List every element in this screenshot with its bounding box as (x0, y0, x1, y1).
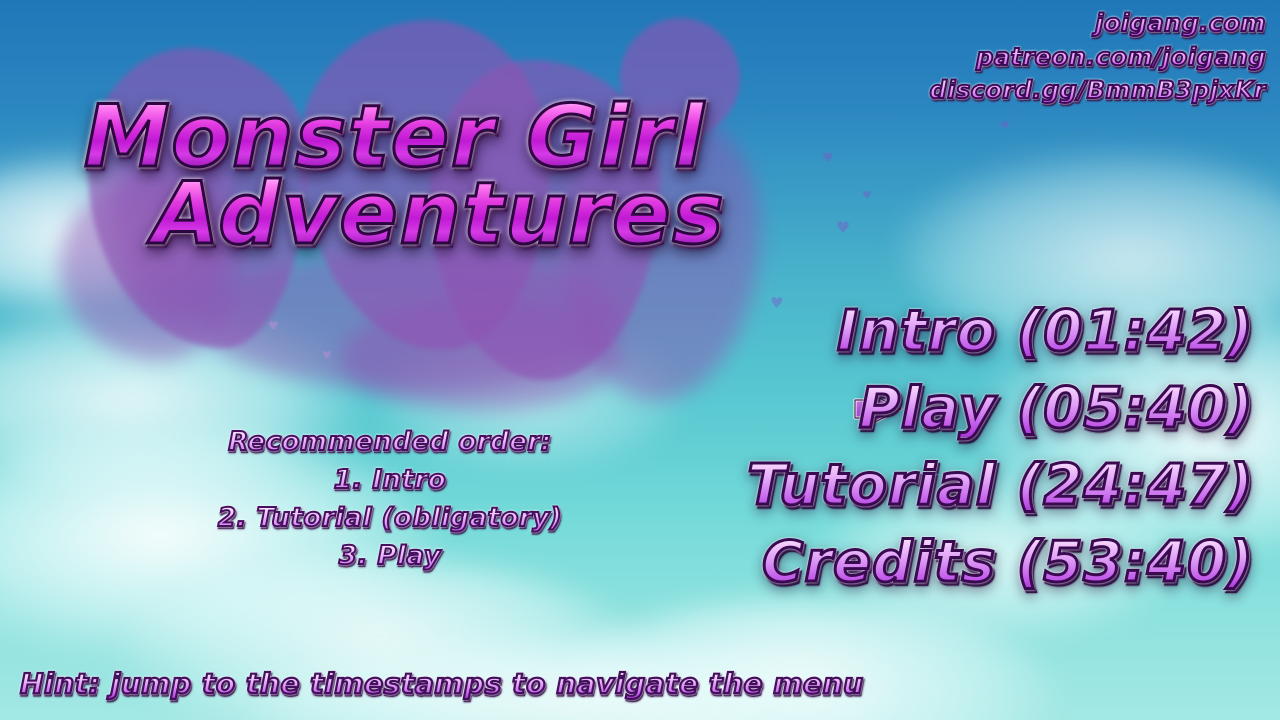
navigation-hint-text: Hint: jump to the timestamps to navigate… (20, 670, 864, 698)
silhouette-figure (340, 300, 620, 410)
link-website[interactable]: joigang.com (930, 8, 1266, 40)
heart-speck-icon: ♥ (822, 152, 834, 165)
heart-speck-icon: ♥ (268, 320, 279, 332)
heart-speck-icon: ♥ (540, 62, 550, 73)
recommended-order-heading: Recommended order: (180, 425, 600, 460)
heart-speck-icon: ♥ (836, 220, 850, 236)
game-title: Monster Girl Adventures (66, 96, 766, 257)
menu-item-tutorial-label: Tutorial (24:47) (747, 458, 1254, 514)
menu-item-intro-label: Intro (01:42) (837, 304, 1254, 360)
recommended-order-block: Recommended order: 1. Intro 2. Tutorial … (180, 425, 600, 574)
link-discord[interactable]: discord.gg/BmmB3pjxKr (930, 75, 1266, 107)
game-title-screen: ♥ ♥ ♥ ♥ ♥ ♥ ♥ ♥ joigang.com patreon.com/… (0, 0, 1280, 720)
heart-speck-icon: ♥ (322, 350, 332, 361)
recommended-step-3: 3. Play (180, 539, 600, 574)
navigation-hint: Hint: jump to the timestamps to navigate… (20, 670, 864, 698)
recommended-step-2: 2. Tutorial (obligatory) (180, 501, 600, 536)
link-patreon[interactable]: patreon.com/joigang (930, 42, 1266, 74)
main-menu: Intro (01:42) Play (05:40) (694, 296, 1254, 599)
menu-item-credits[interactable]: Credits (53:40) (762, 527, 1254, 599)
heart-speck-icon: ♥ (1000, 120, 1010, 131)
heart-speck-icon: ♥ (862, 190, 872, 201)
game-title-line-2: Adventures (66, 173, 766, 256)
menu-item-play[interactable]: Play (05:40) (859, 373, 1254, 445)
promo-links: joigang.com patreon.com/joigang discord.… (930, 8, 1266, 107)
menu-item-credits-label: Credits (53:40) (762, 535, 1254, 591)
recommended-step-1: 1. Intro (180, 463, 600, 498)
menu-item-tutorial[interactable]: Tutorial (24:47) (747, 450, 1254, 522)
menu-item-intro[interactable]: Intro (01:42) (837, 296, 1254, 368)
menu-item-play-label: Play (05:40) (859, 381, 1254, 437)
